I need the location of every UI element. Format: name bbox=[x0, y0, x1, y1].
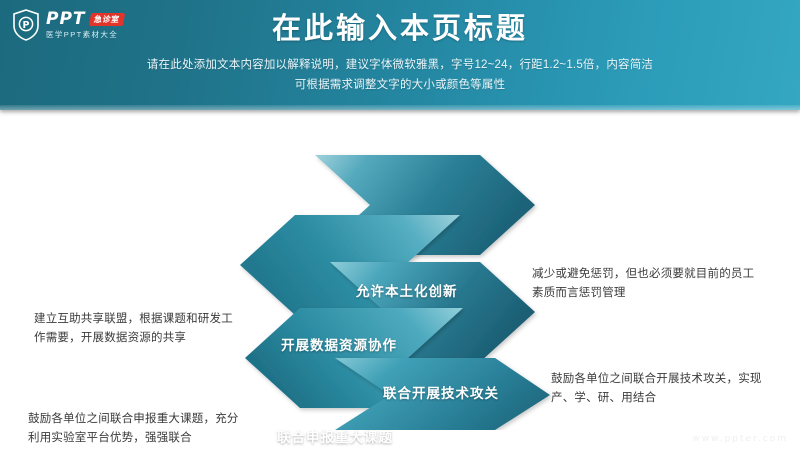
left-description-1: 建立互助共享联盟，根据课题和研发工作需要，开展数据资源的共享 bbox=[34, 310, 234, 348]
slide-header: P PPT 急诊室 医学PPT素材大全 在此输入本页标题 请在此处添加文本内容加… bbox=[0, 0, 800, 110]
subtitle-line-1: 请在此处添加文本内容加以解释说明，建议字体微软雅黑，字号12~24，行距1.2~… bbox=[0, 56, 800, 74]
slide-canvas: P PPT 急诊室 医学PPT素材大全 在此输入本页标题 请在此处添加文本内容加… bbox=[0, 0, 800, 450]
left-description-2: 鼓励各单位之间联合申报重大课题，充分利用实验室平台优势，强强联合 bbox=[28, 410, 250, 448]
arrow-label-4: 联合申报重大课题 bbox=[277, 426, 393, 446]
arrow-label-3: 联合开展技术攻关 bbox=[383, 382, 499, 402]
right-description-1: 减少或避免惩罚，但也必须要就目前的员工素质而言惩罚管理 bbox=[532, 265, 762, 303]
subtitle-line-2: 可根据需求调整文字的大小或颜色等属性 bbox=[0, 76, 800, 94]
arrow-label-2: 开展数据资源协作 bbox=[281, 334, 397, 354]
diagram-area: 允许本土化创新 开展数据资源协作 联合开展技术攻关 联合申报重大课题 鼓励成果免… bbox=[0, 110, 800, 450]
right-description-2: 鼓励各单位之间联合开展技术攻关，实现产、学、研、用结合 bbox=[551, 370, 779, 408]
arrow-label-1: 允许本土化创新 bbox=[356, 280, 458, 300]
site-watermark: www.ppter.com bbox=[692, 434, 788, 444]
page-title: 在此输入本页标题 bbox=[0, 12, 800, 46]
